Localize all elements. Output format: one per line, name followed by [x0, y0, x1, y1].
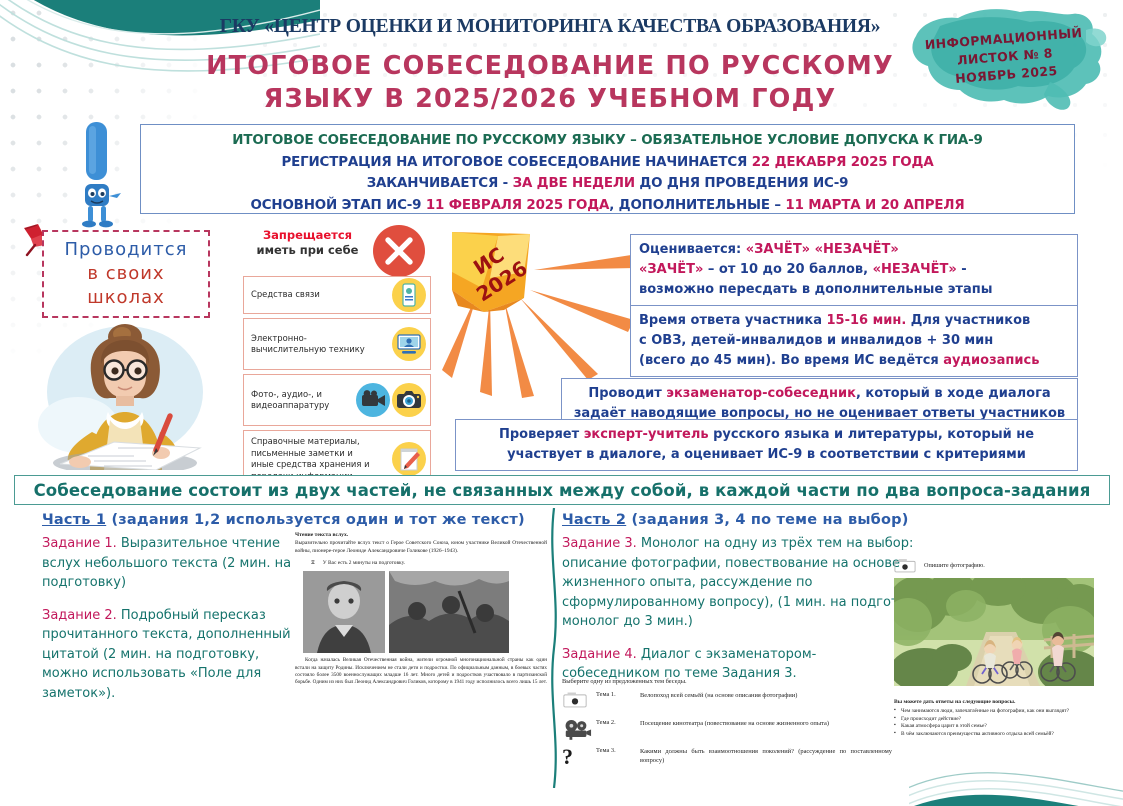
- prohibited-item: Средства связи: [243, 276, 431, 314]
- part-2-heading: Часть 2 (задания 3, 4 по теме на выбор): [562, 512, 1110, 528]
- theme-item: Тема 2. Посещение кинотеатра (повествова…: [562, 719, 892, 741]
- sample-doc-heading: Чтение текста вслух.: [295, 532, 547, 538]
- callout-expert-text: Проверяет эксперт-учитель русского языка…: [499, 427, 1034, 462]
- section-divider: [546, 508, 562, 788]
- questions-list: Чем занимаются люди, запечатлённые на фо…: [894, 708, 1112, 738]
- themes-lead: Выберите одну из предложенных тем беседы…: [562, 678, 892, 685]
- announcement-box: ИТОГОВОЕ СОБЕСЕДОВАНИЕ ПО РУССКОМУ ЯЗЫКУ…: [140, 124, 1075, 214]
- announcement-line-4-date-1: 11 ФЕВРАЛЯ 2025 ГОДА: [426, 198, 609, 213]
- theme-number: Тема 1.: [596, 691, 640, 698]
- question-item: Чем занимаются люди, запечатлённые на фо…: [894, 708, 1112, 716]
- part-2-heading-rest: (задания 3, 4 по теме на выбор): [626, 512, 908, 528]
- photo-card-header: Опишите фотографию.: [894, 558, 1116, 573]
- film-projector-icon: [562, 719, 596, 741]
- part-2-task-3-label: Задание 3.: [562, 536, 637, 551]
- prohibited-item-label: Электронно- вычислительную технику: [251, 333, 365, 356]
- part-2-heading-label: Часть 2: [562, 512, 626, 528]
- part-1-task-2: Задание 2. Подробный пересказ прочитанно…: [42, 606, 292, 704]
- portrait-photo: [303, 571, 385, 653]
- callout-examiner-text: Проводит экзаменатор-собеседник, который…: [574, 386, 1065, 421]
- sample-doc-images: [303, 571, 547, 653]
- theme-item: ? Тема 3. Какими должны быть взаимоотнош…: [562, 747, 892, 769]
- part-1-task-1: Задание 1. Выразительное чтение вслух не…: [42, 534, 292, 593]
- announcement-line-3-c: ДО ДНЯ ПРОВЕДЕНИЯ ИС-9: [635, 176, 848, 191]
- computer-icon: [392, 327, 426, 361]
- part-1-heading: Часть 1 (задания 1,2 используется один и…: [42, 512, 542, 528]
- announcement-line-4-c: , ДОПОЛНИТЕЛЬНЫЕ –: [609, 198, 785, 213]
- announcement-line-4-a: ОСНОВНОЙ ЭТАП ИС-9: [250, 198, 425, 213]
- page-title-line-1: ИТОГОВОЕ СОБЕСЕДОВАНИЕ ПО РУССКОМУ: [175, 50, 925, 83]
- prohibited-item: Фото-, аудио-, и видеоаппаратуру: [243, 374, 431, 426]
- sample-doc-paragraph-2: Когда началась Великая Отечественная вой…: [295, 657, 547, 687]
- photo-card-label: Опишите фотографию.: [924, 562, 985, 569]
- prohibited-items-list: Средства связи Электронно- вычислительну…: [243, 276, 431, 492]
- prohibited-item-label: Средства связи: [251, 289, 320, 301]
- announcement-line-2-date: 22 ДЕКАБРЯ 2025 ГОДА: [752, 155, 934, 170]
- camera-icon: [392, 383, 426, 417]
- prohibited-title: Запрещается иметь при себе: [245, 228, 370, 258]
- prohibited-title-line-1: Запрещается: [245, 228, 370, 243]
- callout-expert: Проверяет эксперт-учитель русского языка…: [455, 419, 1078, 471]
- videocamera-icon: [356, 383, 390, 417]
- student-writing-illustration: [18, 320, 233, 470]
- part-2-photo-card: Опишите фотографию.: [894, 558, 1116, 738]
- photo-camera-icon: [562, 691, 596, 713]
- announcement-line-3: ЗАКАНЧИВАЕТСЯ - ЗА ДВЕ НЕДЕЛИ ДО ДНЯ ПРО…: [141, 173, 1074, 195]
- family-cycling-photo: [894, 578, 1094, 686]
- callout-duration: Время ответа участника 15-16 мин. Для уч…: [630, 305, 1078, 377]
- organization-title: ГКУ «ЦЕНТР ОЦЕНКИ И МОНИТОРИНГА КАЧЕСТВА…: [180, 16, 920, 38]
- page-title-line-2: ЯЗЫКУ В 2025/2026 УЧЕБНОМ ГОДУ: [175, 83, 925, 116]
- part-2-task-4-label: Задание 4.: [562, 647, 637, 662]
- announcement-line-4: ОСНОВНОЙ ЭТАП ИС-9 11 ФЕВРАЛЯ 2025 ГОДА,…: [141, 195, 1074, 217]
- part-1-task-2-label: Задание 2.: [42, 608, 117, 623]
- question-item: В чём заключаются преимущества активного…: [894, 731, 1112, 739]
- callout-assessment: Оценивается: «ЗАЧЁТ» «НЕЗАЧЁТ» «ЗАЧЁТ» –…: [630, 234, 1078, 306]
- part-2-themes-document: Выберите одну из предложенных тем беседы…: [562, 678, 892, 775]
- part-1-task-1-label: Задание 1.: [42, 536, 117, 551]
- announcement-line-2: РЕГИСТРАЦИЯ НА ИТОГОВОЕ СОБЕСЕДОВАНИЕ НА…: [141, 152, 1074, 174]
- exclamation-mark-mascot-icon: [72, 120, 124, 230]
- prohibited-close-icon: [372, 224, 426, 278]
- notepad-pencil-icon: [392, 442, 426, 476]
- part-1-heading-rest: (задания 1,2 используется один и тот же …: [106, 512, 525, 528]
- prohibited-item-label: Фото-, аудио-, и видеоаппаратуру: [251, 389, 329, 412]
- announcement-line-1: ИТОГОВОЕ СОБЕСЕДОВАНИЕ ПО РУССКОМУ ЯЗЫКУ…: [141, 130, 1074, 152]
- hourglass-icon: ⧖: [311, 560, 315, 566]
- school-box-line-3: школах: [87, 286, 165, 310]
- theme-number: Тема 2.: [596, 719, 640, 726]
- structure-banner-text: Собеседование состоит из двух частей, не…: [34, 481, 1091, 500]
- question-item: Какая атмосфера царит в этой семье?: [894, 723, 1112, 731]
- infographic-page: ГКУ «ЦЕНТР ОЦЕНКИ И МОНИТОРИНГА КАЧЕСТВА…: [0, 0, 1123, 794]
- sample-doc-note: ⧖У Вас есть 2 минуты на подготовку.: [311, 560, 547, 567]
- announcement-line-3-highlight: ЗА ДВЕ НЕДЕЛИ: [513, 176, 635, 191]
- question-mark-icon: ?: [562, 747, 596, 769]
- theme-text: Велопоход всей семьёй (на основе описани…: [640, 691, 797, 700]
- smartphone-icon: [392, 278, 426, 312]
- sample-doc-note-text: У Вас есть 2 минуты на подготовку.: [323, 560, 405, 566]
- sample-doc-paragraph: Выразительно прочитайте вслух текст о Ге…: [295, 540, 547, 555]
- theme-text: Какими должны быть взаимоотношения покол…: [640, 747, 892, 765]
- soldiers-photo: [389, 571, 509, 653]
- theme-text: Посещение кинотеатра (повествование на о…: [640, 719, 829, 728]
- prohibited-item: Электронно- вычислительную технику: [243, 318, 431, 370]
- photo-camera-icon: [894, 558, 916, 573]
- callout-assessment-text: Оценивается: «ЗАЧЁТ» «НЕЗАЧЁТ» «ЗАЧЁТ» –…: [639, 242, 992, 297]
- part-2-task-3: Задание 3. Монолог на одну из трёх тем н…: [562, 534, 934, 632]
- school-box-line-2: в своих: [87, 262, 164, 286]
- page-title: ИТОГОВОЕ СОБЕСЕДОВАНИЕ ПО РУССКОМУ ЯЗЫКУ…: [175, 50, 925, 116]
- school-box-line-1: Проводится: [65, 238, 188, 262]
- theme-item: Тема 1. Велопоход всей семьёй (на основе…: [562, 691, 892, 713]
- prohibited-title-line-2: иметь при себе: [245, 243, 370, 258]
- part-1-sample-document: Чтение текста вслух. Выразительно прочит…: [295, 532, 547, 728]
- info-sheet-badge: ИНФОРМАЦИОННЫЙ ЛИСТОК № 8 НОЯБРЬ 2025: [900, 4, 1115, 116]
- callout-duration-text: Время ответа участника 15-16 мин. Для уч…: [639, 313, 1039, 368]
- announcement-line-4-date-2: 11 МАРТА И 20 АПРЕЛЯ: [785, 198, 964, 213]
- questions-title: Вы можете дать ответы на следующие вопро…: [894, 699, 1112, 705]
- structure-banner: Собеседование состоит из двух частей, не…: [14, 475, 1110, 505]
- school-location-box: Проводится в своих школах: [42, 230, 210, 318]
- sunburst-badge: [452, 232, 530, 312]
- announcement-line-2-a: РЕГИСТРАЦИЯ НА ИТОГОВОЕ СОБЕСЕДОВАНИЕ НА…: [281, 155, 751, 170]
- part-1-heading-label: Часть 1: [42, 512, 106, 528]
- photo-card-questions: Вы можете дать ответы на следующие вопро…: [894, 699, 1112, 738]
- announcement-line-3-a: ЗАКАНЧИВАЕТСЯ -: [367, 176, 513, 191]
- theme-number: Тема 3.: [596, 747, 640, 754]
